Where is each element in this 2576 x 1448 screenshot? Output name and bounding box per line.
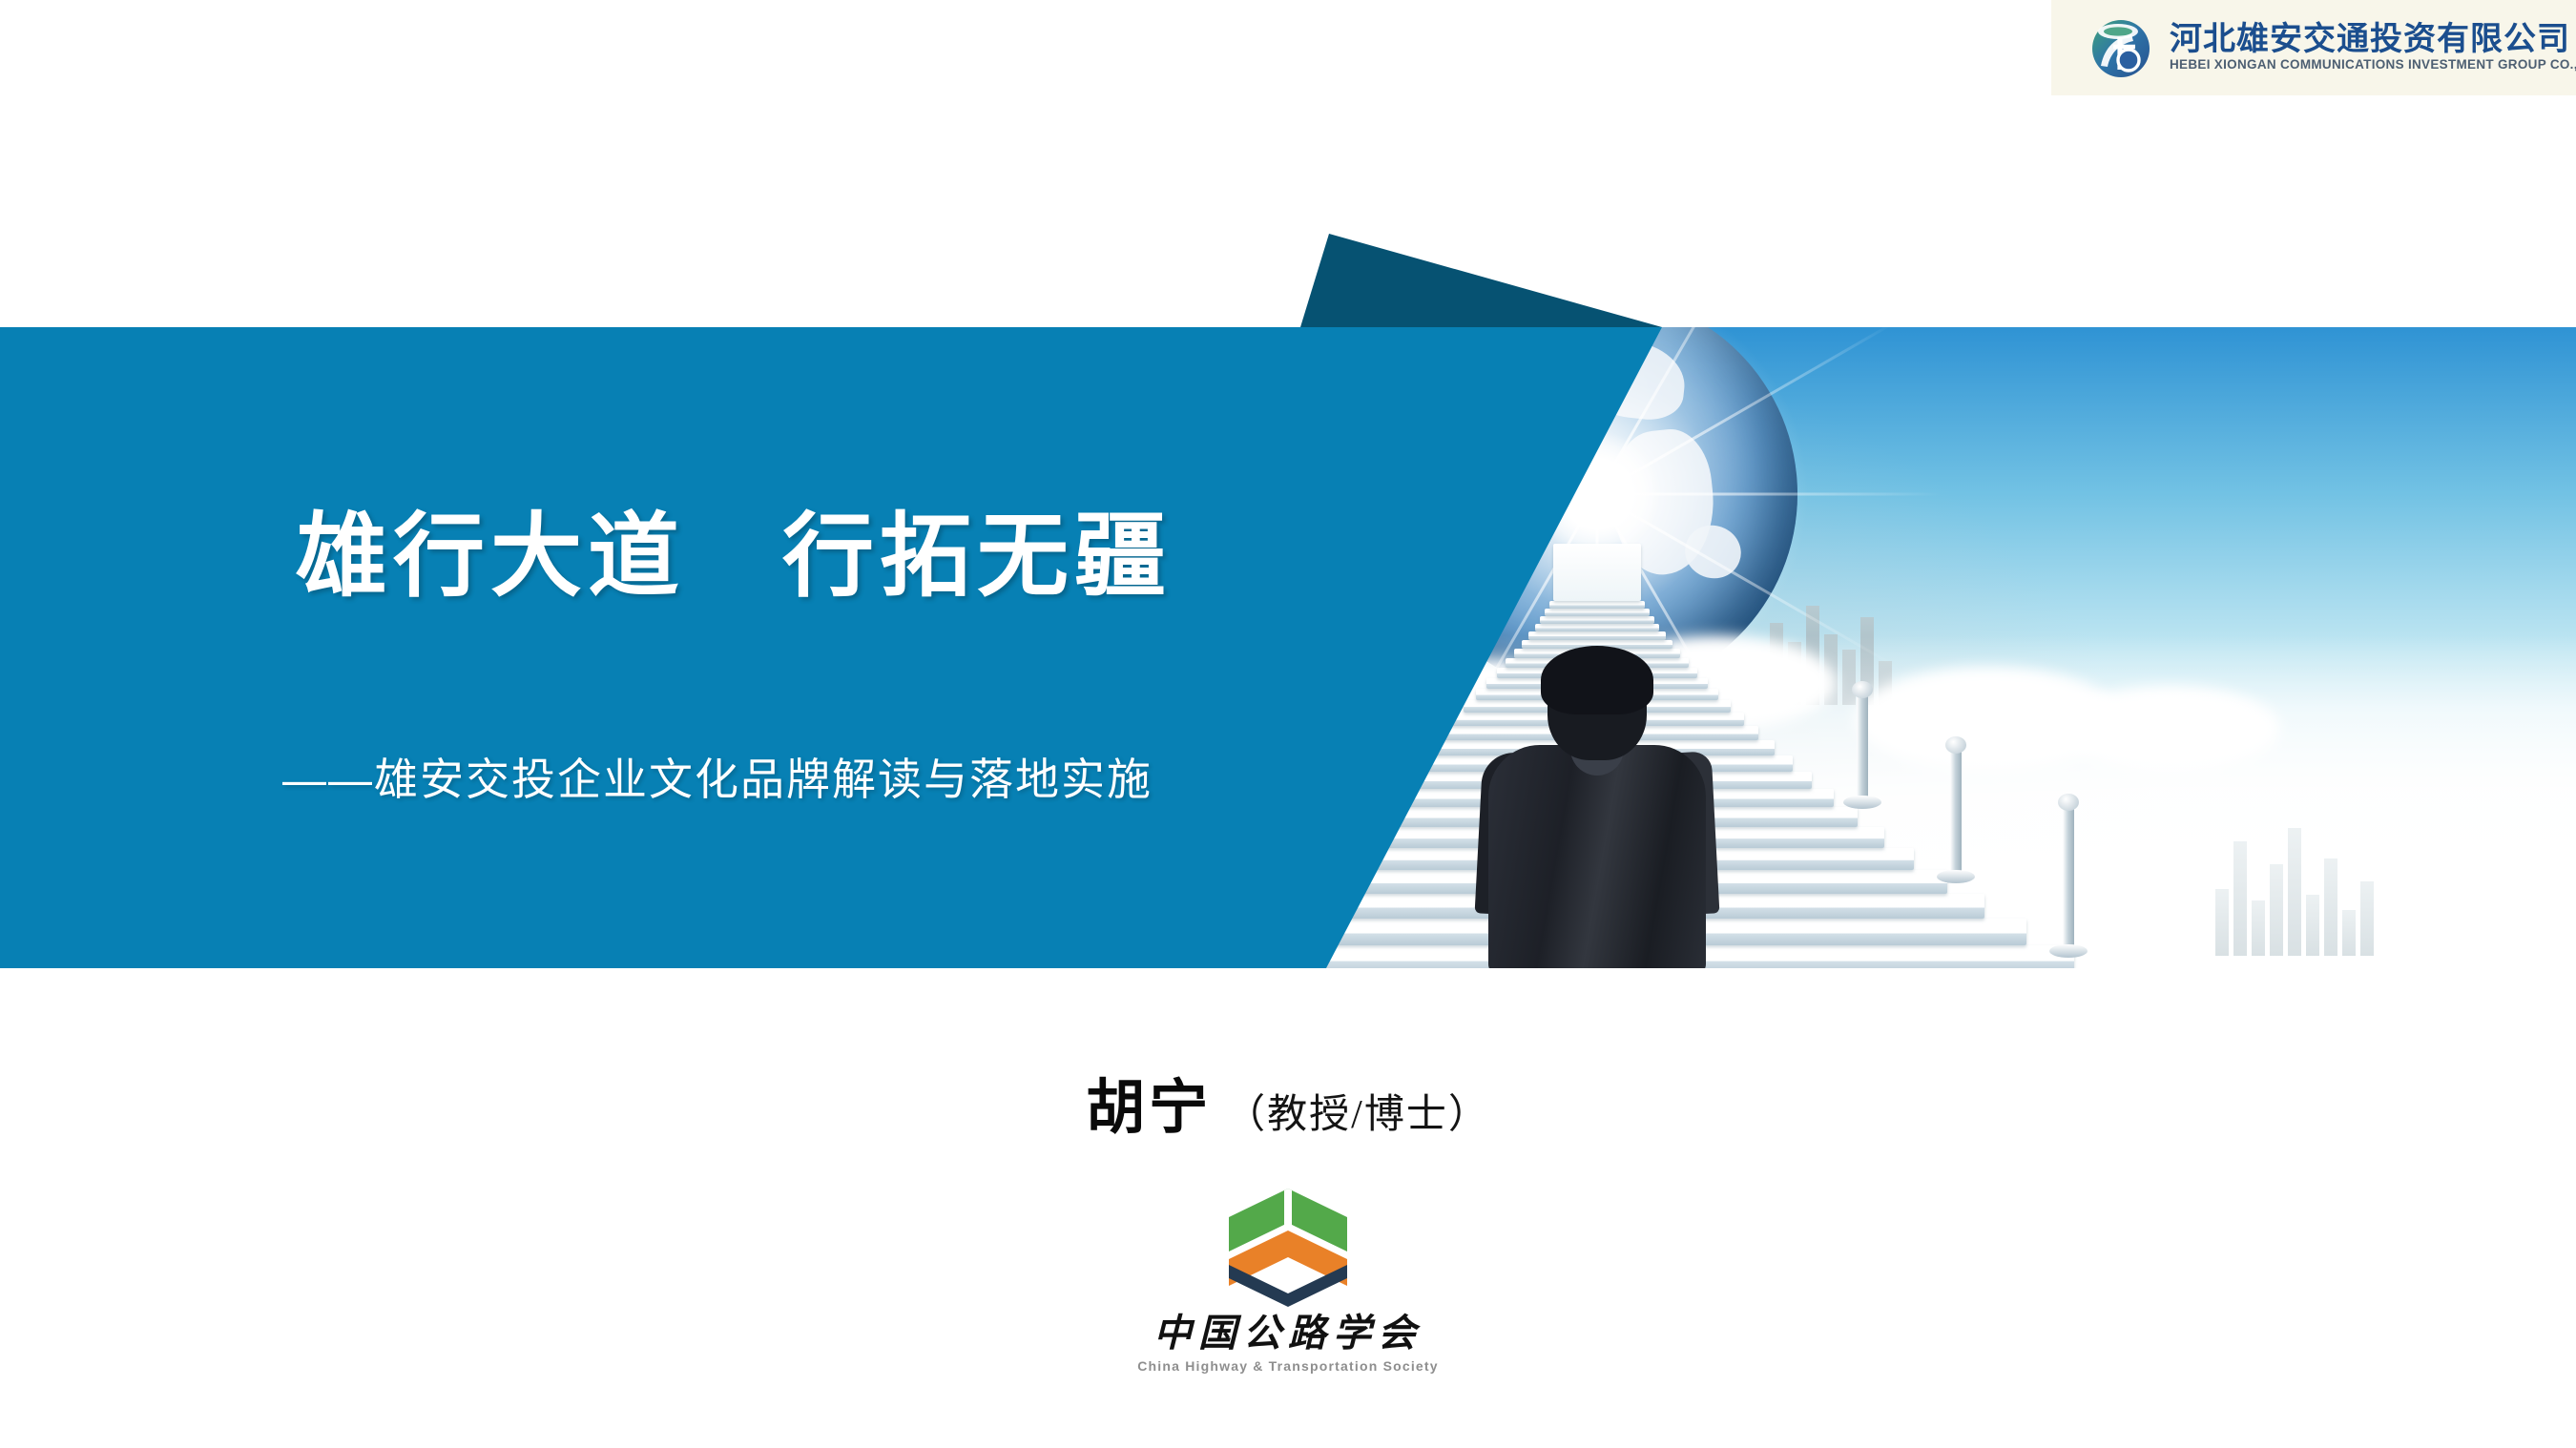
society-name-cn: 中国公路学会 <box>1153 1314 1423 1353</box>
presenter-line: 胡宁 （教授/博士） <box>0 1059 2576 1145</box>
corporate-name-cn: 河北雄安交通投资有限公司 <box>2170 23 2576 57</box>
businessman-silhouette <box>1473 653 1721 968</box>
presenter-name: 胡宁 <box>1086 1059 1212 1145</box>
hebei-xiongan-emblem-icon <box>2086 12 2156 83</box>
corporate-name-en: HEBEI XIONGAN COMMUNICATIONS INVESTMENT … <box>2170 58 2576 72</box>
china-highway-society-cube-icon <box>1225 1183 1351 1309</box>
presenter-credentials: （教授/博士） <box>1225 1082 1490 1140</box>
slide-canvas: 河北雄安交通投资有限公司 HEBEI XIONGAN COMMUNICATION… <box>0 0 2576 1448</box>
society-name-en: China Highway & Transportation Society <box>1137 1358 1439 1374</box>
corporate-logo: 河北雄安交通投资有限公司 HEBEI XIONGAN COMMUNICATION… <box>2051 0 2576 95</box>
lamp-post <box>2063 806 2074 949</box>
society-logo: 中国公路学会 China Highway & Transportation So… <box>0 1183 2576 1374</box>
slide-subtitle: ——雄安交投企业文化品牌解读与落地实施 <box>282 754 1153 806</box>
slide-title: 雄行大道 行拓无疆 <box>296 508 1172 606</box>
title-banner <box>0 327 2576 968</box>
city-skyline-far-right <box>2215 828 2374 956</box>
lamp-post <box>1857 693 1868 800</box>
lamp-post <box>1950 749 1962 875</box>
corporate-logo-text: 河北雄安交通投资有限公司 HEBEI XIONGAN COMMUNICATION… <box>2170 23 2576 73</box>
